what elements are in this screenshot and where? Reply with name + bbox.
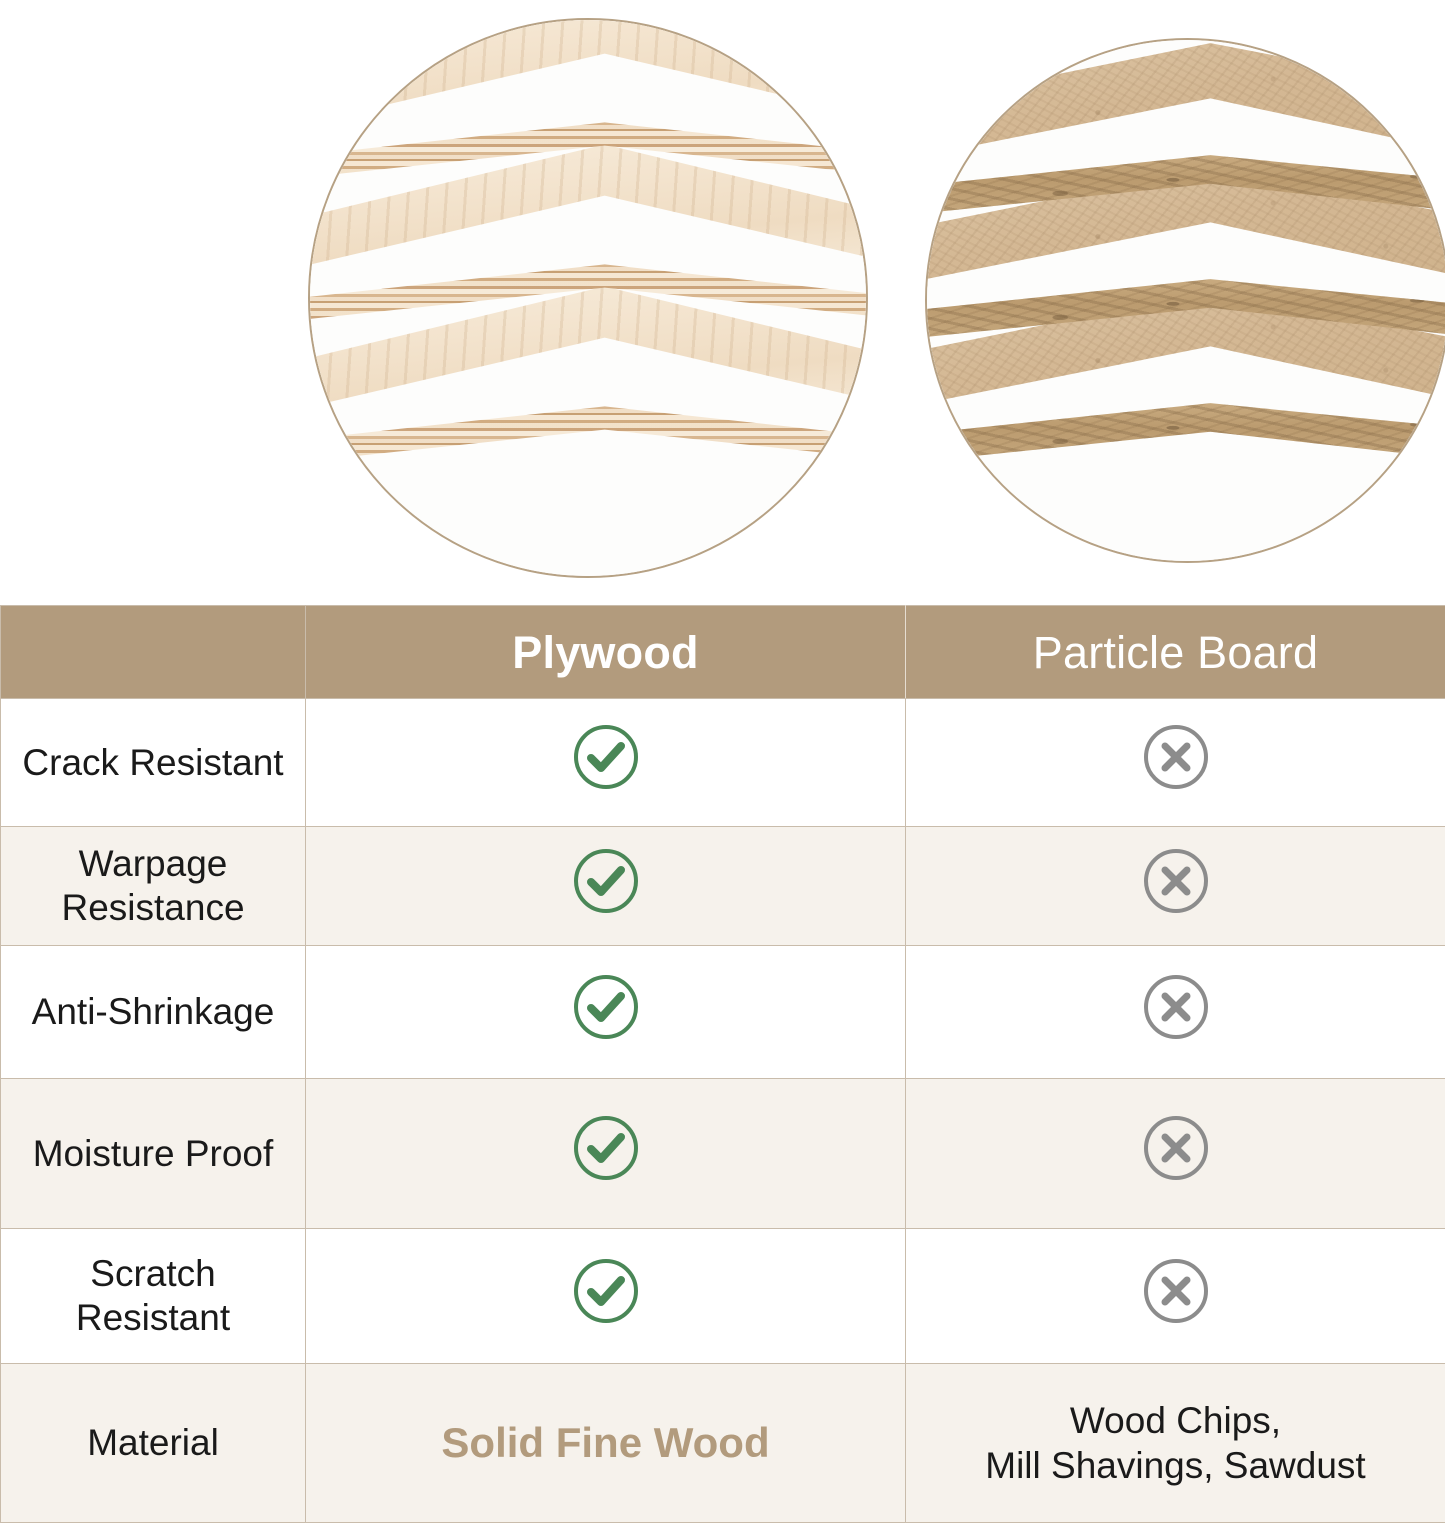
check-circle-icon (571, 1256, 641, 1326)
cell-particle-warpage-resistance (906, 827, 1445, 946)
x-circle-icon (1141, 972, 1211, 1042)
header-particle-label: Particle Board (1033, 627, 1318, 678)
header-feature-blank (1, 606, 306, 699)
x-circle-icon (1141, 722, 1211, 792)
comparison-table: Plywood Particle Board Crack Resistant (0, 605, 1445, 1523)
feature-label-crack-resistant: Crack Resistant (1, 699, 306, 827)
cell-plywood-warpage-resistance (306, 827, 906, 946)
check-circle-icon (571, 1113, 641, 1183)
table-row: Scratch Resistant (1, 1229, 1445, 1364)
plywood-photo (308, 18, 868, 578)
feature-label-line1: Scratch (90, 1253, 215, 1294)
x-circle-icon (1141, 1256, 1211, 1326)
cell-plywood-crack-resistant (306, 699, 906, 827)
table-row: Warpage Resistance (1, 827, 1445, 946)
hero-image-band (0, 0, 1445, 605)
table-body: Crack Resistant (1, 699, 1445, 1523)
table-row: Anti-Shrinkage (1, 946, 1445, 1079)
check-circle-icon (571, 846, 641, 916)
feature-label-material: Material (1, 1364, 306, 1523)
table-row: Material Solid Fine Wood Wood Chips, Mil… (1, 1364, 1445, 1523)
x-circle-icon (1141, 1113, 1211, 1183)
header-row: Plywood Particle Board (1, 606, 1445, 699)
cell-particle-moisture-proof (906, 1079, 1445, 1229)
cell-plywood-moisture-proof (306, 1079, 906, 1229)
table-row: Crack Resistant (1, 699, 1445, 827)
cell-plywood-scratch-resistant (306, 1229, 906, 1364)
feature-label-line2: Resistant (76, 1297, 230, 1338)
feature-label-anti-shrinkage: Anti-Shrinkage (1, 946, 306, 1079)
cell-plywood-anti-shrinkage (306, 946, 906, 1079)
cell-particle-anti-shrinkage (906, 946, 1445, 1079)
table-row: Moisture Proof (1, 1079, 1445, 1229)
feature-label-warpage-resistance: Warpage Resistance (1, 827, 306, 946)
particle-board-stack-graphic (925, 38, 1445, 563)
cell-particle-material-line2: Mill Shavings, Sawdust (985, 1445, 1365, 1486)
comparison-infographic: Plywood Particle Board Crack Resistant (0, 0, 1445, 1445)
cell-plywood-material: Solid Fine Wood (306, 1364, 906, 1523)
feature-label-moisture-proof: Moisture Proof (1, 1079, 306, 1229)
check-circle-icon (571, 722, 641, 792)
cell-particle-material: Wood Chips, Mill Shavings, Sawdust (906, 1364, 1445, 1523)
check-circle-icon (571, 972, 641, 1042)
feature-label-scratch-resistant: Scratch Resistant (1, 1229, 306, 1364)
cell-particle-scratch-resistant (906, 1229, 1445, 1364)
header-particle-board: Particle Board (906, 606, 1445, 699)
x-circle-icon (1141, 846, 1211, 916)
header-plywood: Plywood (306, 606, 906, 699)
particle-board-photo (925, 38, 1445, 563)
plywood-stack-graphic (308, 18, 868, 578)
table-header: Plywood Particle Board (1, 606, 1445, 699)
feature-label-line2: Resistance (61, 887, 244, 928)
header-plywood-label: Plywood (512, 627, 698, 678)
cell-particle-material-line1: Wood Chips, (1070, 1400, 1281, 1441)
feature-label-line1: Warpage (79, 843, 228, 884)
cell-particle-crack-resistant (906, 699, 1445, 827)
